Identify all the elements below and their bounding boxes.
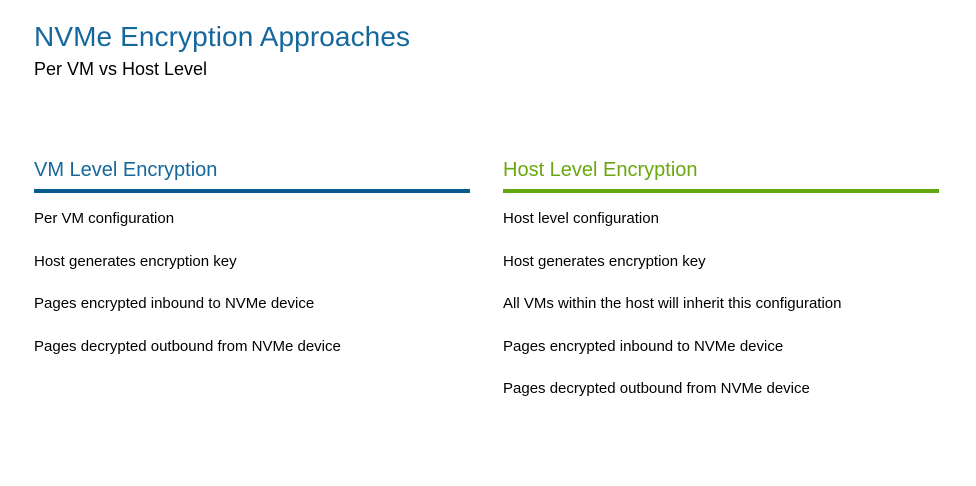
title-block: NVMe Encryption Approaches Per VM vs Hos… xyxy=(34,20,934,81)
column-host-level-encryption: Host Level Encryption Host level configu… xyxy=(503,158,939,422)
column-heading-vm-level: VM Level Encryption xyxy=(34,158,470,183)
column-rule-vm-level xyxy=(34,189,470,193)
list-item: Pages encrypted inbound to NVMe device xyxy=(503,337,939,380)
list-item: Pages decrypted outbound from NVMe devic… xyxy=(34,337,470,380)
list-item: Host generates encryption key xyxy=(503,252,939,295)
column-vm-level-encryption: VM Level Encryption Per VM configuration… xyxy=(34,158,470,379)
list-item: Pages decrypted outbound from NVMe devic… xyxy=(503,379,939,422)
column-heading-host-level: Host Level Encryption xyxy=(503,158,939,183)
bullet-list-vm-level: Per VM configuration Host generates encr… xyxy=(34,209,470,379)
list-item: Per VM configuration xyxy=(34,209,470,252)
column-rule-host-level xyxy=(503,189,939,193)
list-item: All VMs within the host will inherit thi… xyxy=(503,294,939,337)
comparison-columns: VM Level Encryption Per VM configuration… xyxy=(0,158,976,458)
bullet-list-host-level: Host level configuration Host generates … xyxy=(503,209,939,422)
slide-canvas: NVMe Encryption Approaches Per VM vs Hos… xyxy=(0,0,976,486)
list-item: Host generates encryption key xyxy=(34,252,470,295)
list-item: Pages encrypted inbound to NVMe device xyxy=(34,294,470,337)
page-title: NVMe Encryption Approaches xyxy=(34,20,934,54)
list-item: Host level configuration xyxy=(503,209,939,252)
page-subtitle: Per VM vs Host Level xyxy=(34,57,934,81)
